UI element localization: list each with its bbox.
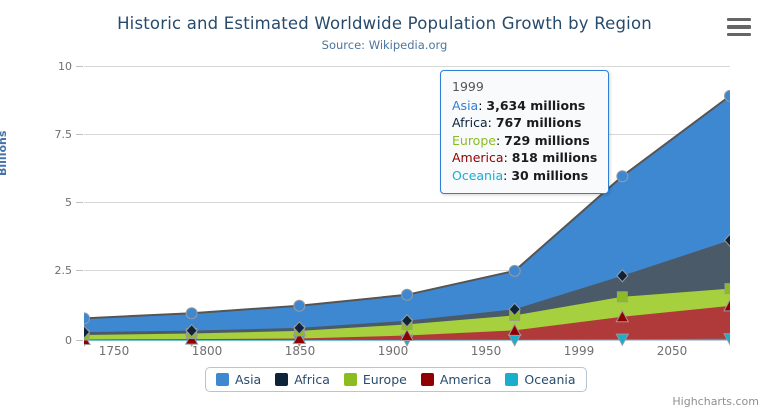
legend-item-europe[interactable]: Europe bbox=[344, 372, 407, 387]
tooltip-series-name: Europe bbox=[452, 133, 496, 148]
highcharts-container: Historic and Estimated Worldwide Populat… bbox=[0, 0, 769, 416]
marker-asia-1800[interactable] bbox=[186, 308, 197, 319]
tooltip-series-value: 729 millions bbox=[504, 133, 590, 148]
x-tick-label-1900: 1900 bbox=[363, 344, 423, 358]
marker-asia-1900[interactable] bbox=[402, 289, 413, 300]
legend-swatch-icon bbox=[216, 373, 229, 386]
y-tick-mark-7.5 bbox=[76, 134, 83, 135]
tooltip-separator: : bbox=[504, 150, 512, 165]
legend: AsiaAfricaEuropeAmericaOceania bbox=[205, 367, 587, 392]
credits-link[interactable]: Highcharts.com bbox=[672, 395, 759, 408]
tooltip-separator: : bbox=[496, 133, 504, 148]
marker-asia-1850[interactable] bbox=[294, 300, 305, 311]
legend-swatch-icon bbox=[421, 373, 434, 386]
series-layer bbox=[84, 66, 730, 348]
chart-subtitle: Source: Wikipedia.org bbox=[0, 38, 769, 52]
x-tick-label-1999: 1999 bbox=[549, 344, 609, 358]
legend-item-africa[interactable]: Africa bbox=[275, 372, 330, 387]
y-tick-label-10: 10 bbox=[30, 60, 72, 73]
tooltip-row-oceania: Oceania: 30 millions bbox=[452, 167, 597, 185]
y-tick-label-0: 0 bbox=[30, 334, 72, 347]
tooltip-separator: : bbox=[488, 115, 496, 130]
y-tick-mark-5 bbox=[76, 202, 83, 203]
marker-europe-2050[interactable] bbox=[725, 284, 730, 294]
y-axis-title: Billions bbox=[0, 131, 9, 176]
x-tick-label-1800: 1800 bbox=[177, 344, 237, 358]
y-tick-mark-2.5 bbox=[76, 270, 83, 271]
y-tick-label-5: 5 bbox=[30, 196, 72, 209]
legend-item-label: Africa bbox=[294, 372, 330, 387]
y-tick-label-7.5: 7.5 bbox=[30, 128, 72, 141]
chart-title: Historic and Estimated Worldwide Populat… bbox=[0, 14, 769, 33]
marker-asia-1999[interactable] bbox=[617, 171, 628, 182]
legend-item-america[interactable]: America bbox=[421, 372, 492, 387]
tooltip: 1999 Asia: 3,634 millionsAfrica: 767 mil… bbox=[440, 70, 609, 194]
legend-item-label: Europe bbox=[363, 372, 407, 387]
tooltip-series-name: Asia bbox=[452, 98, 478, 113]
legend-item-label: America bbox=[440, 372, 492, 387]
legend-swatch-icon bbox=[505, 373, 518, 386]
legend-swatch-icon bbox=[344, 373, 357, 386]
menu-bar-2 bbox=[727, 25, 751, 28]
menu-bar-1 bbox=[727, 18, 751, 21]
marker-europe-1999[interactable] bbox=[617, 292, 627, 302]
y-tick-label-2.5: 2.5 bbox=[30, 264, 72, 277]
y-tick-mark-0 bbox=[76, 340, 83, 341]
x-tick-label-1850: 1850 bbox=[270, 344, 330, 358]
menu-bar-3 bbox=[727, 33, 751, 36]
tooltip-row-africa: Africa: 767 millions bbox=[452, 114, 597, 132]
legend-item-label: Asia bbox=[235, 372, 261, 387]
tooltip-header: 1999 bbox=[452, 78, 597, 97]
tooltip-series-value: 30 millions bbox=[511, 168, 588, 183]
tooltip-series-value: 818 millions bbox=[512, 150, 598, 165]
x-tick-label-2050: 2050 bbox=[642, 344, 702, 358]
legend-item-oceania[interactable]: Oceania bbox=[505, 372, 575, 387]
tooltip-series-value: 767 millions bbox=[496, 115, 582, 130]
tooltip-series-value: 3,634 millions bbox=[486, 98, 585, 113]
tooltip-row-america: America: 818 millions bbox=[452, 149, 597, 167]
y-tick-mark-10 bbox=[76, 66, 83, 67]
tooltip-series-name: Africa bbox=[452, 115, 488, 130]
tooltip-series-name: Oceania bbox=[452, 168, 503, 183]
hamburger-menu-icon[interactable] bbox=[727, 18, 751, 36]
tooltip-series-name: America bbox=[452, 150, 504, 165]
legend-item-label: Oceania bbox=[524, 372, 575, 387]
legend-swatch-icon bbox=[275, 373, 288, 386]
tooltip-rows: Asia: 3,634 millionsAfrica: 767 millions… bbox=[452, 97, 597, 185]
plot-area bbox=[84, 66, 730, 340]
tooltip-row-asia: Asia: 3,634 millions bbox=[452, 97, 597, 115]
x-tick-label-1950: 1950 bbox=[456, 344, 516, 358]
legend-item-asia[interactable]: Asia bbox=[216, 372, 261, 387]
tooltip-row-europe: Europe: 729 millions bbox=[452, 132, 597, 150]
x-tick-label-1750: 1750 bbox=[84, 344, 144, 358]
marker-asia-1950[interactable] bbox=[509, 265, 520, 276]
